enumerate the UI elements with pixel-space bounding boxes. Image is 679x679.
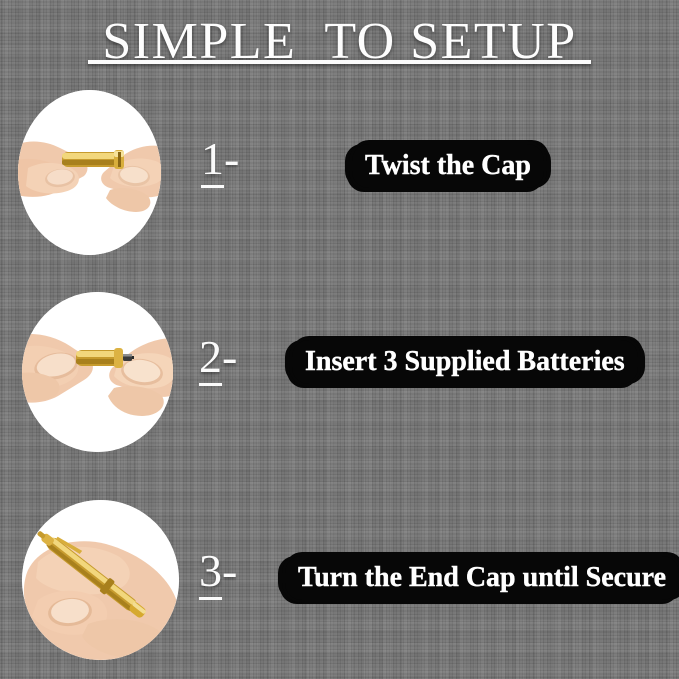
step-number-2-value: 2: [199, 331, 222, 386]
insert-batteries-illustration: [22, 292, 173, 452]
step-number-1-value: 1: [201, 133, 224, 188]
twist-cap-illustration: [18, 90, 161, 255]
setup-infographic: SIMPLE TO SETUP: [0, 0, 679, 679]
step-row-2: 2- Insert 3 Supplied Batteries: [0, 292, 679, 457]
step-number-3-value: 3: [199, 545, 222, 600]
step-label-2: Insert 3 Supplied Batteries: [292, 340, 638, 384]
assembled-pen-illustration: [22, 500, 179, 660]
step-number-1-dash: -: [224, 133, 239, 184]
step-photo-3: [22, 500, 179, 660]
step-photo-1: [18, 90, 161, 255]
step-number-2-dash: -: [222, 331, 237, 382]
step-number-3: 3-: [199, 548, 237, 594]
step-label-1: Twist the Cap: [352, 144, 544, 188]
step-row-1: 1- Twist the Cap: [0, 90, 679, 260]
title-underline-rule: [88, 60, 591, 64]
step-label-3: Turn the End Cap until Secure: [285, 556, 679, 600]
step-number-1: 1-: [201, 136, 239, 182]
step-number-2: 2-: [199, 334, 237, 380]
step-number-3-dash: -: [222, 545, 237, 596]
step-row-3: 3- Turn the End Cap until Secure: [0, 500, 679, 665]
step-photo-2: [22, 292, 173, 452]
